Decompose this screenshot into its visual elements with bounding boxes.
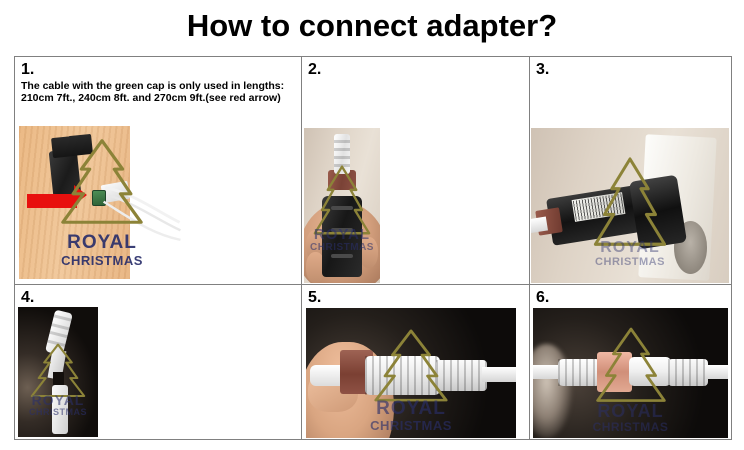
white-cable <box>482 367 516 383</box>
table-row: 1. The cable with the green cap is only … <box>15 57 732 285</box>
step-number-1: 1. <box>15 57 301 79</box>
adapter-ring-2 <box>331 228 353 232</box>
connector-ridges <box>558 359 601 386</box>
connector-ridge-3 <box>334 156 349 159</box>
step-number-6: 6. <box>530 285 731 307</box>
red-arrow-head <box>74 185 87 205</box>
page-title: How to connect adapter? <box>0 6 744 46</box>
connector-ridges <box>436 360 486 391</box>
step-number-2: 2. <box>302 57 529 79</box>
connector-ridge-1 <box>53 314 71 321</box>
step-photo-3: ROYAL CHRISTMAS <box>531 128 729 283</box>
connector-ridge-3 <box>49 331 67 338</box>
connector-ridge-4 <box>47 339 65 346</box>
step-photo-6: ROYAL CHRISTMAS <box>533 308 728 438</box>
adapter-ring-3 <box>331 254 353 258</box>
instruction-steps-table: 1. The cable with the green cap is only … <box>14 56 732 440</box>
white-cable-wires <box>95 181 181 261</box>
white-connector-far <box>668 359 709 386</box>
step-cell-4: 4. <box>15 285 302 440</box>
table-row: 4. <box>15 285 732 440</box>
copper-threaded-nut <box>597 352 632 392</box>
plug-pin-right <box>68 134 93 156</box>
step-photo-1: ROYAL CHRISTMAS <box>19 126 185 279</box>
red-arrow-shaft <box>27 194 77 208</box>
step-cell-2: 2. <box>302 57 530 285</box>
step-photo-5: ROYAL CHRISTMAS <box>306 308 516 438</box>
white-connector-left <box>558 359 601 386</box>
connector-ridges <box>668 359 709 386</box>
black-adapter-body <box>322 196 362 277</box>
step-number-4: 4. <box>15 285 301 307</box>
adapter-ring-1 <box>331 206 353 210</box>
connector-ridge-2 <box>51 323 69 330</box>
step-cell-3: 3. <box>530 57 732 285</box>
step-photo-4: ROYAL CHRISTMAS <box>18 307 98 437</box>
step-description-1: The cable with the green cap is only use… <box>15 79 301 106</box>
connector-ridge-1 <box>334 140 349 143</box>
white-connector-lower <box>52 385 68 434</box>
step-number-3: 3. <box>530 57 731 79</box>
step-cell-5: 5. <box>302 285 530 440</box>
white-connector-body <box>365 356 441 395</box>
step-number-5: 5. <box>302 285 529 307</box>
step-photo-2: ROYAL CHRISTMAS <box>304 128 380 283</box>
white-cable-right <box>705 365 728 379</box>
white-connector-tip <box>334 134 349 174</box>
white-connector-right <box>629 357 672 386</box>
step-cell-6: 6. <box>530 285 732 440</box>
connector-ridges <box>365 356 441 395</box>
white-connector-right <box>436 360 486 391</box>
step-cell-1: 1. The cable with the green cap is only … <box>15 57 302 285</box>
connector-ridge-4 <box>334 164 349 167</box>
connector-ridge-2 <box>334 148 349 151</box>
